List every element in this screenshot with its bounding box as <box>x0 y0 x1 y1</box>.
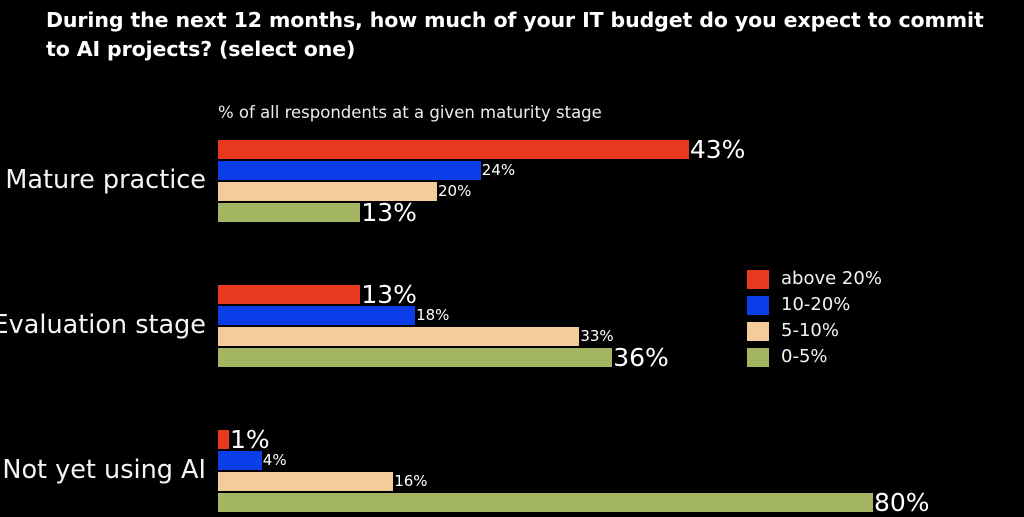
bar-value-label: 33% <box>580 329 613 344</box>
bar-group: Not yet using AI1%4%16%80% <box>0 430 1024 512</box>
legend-label: above 20% <box>781 270 882 288</box>
bar-value-label: 36% <box>613 345 669 370</box>
bar-row[interactable]: 16% <box>218 472 428 491</box>
bar-value-label: 13% <box>361 282 417 307</box>
legend-label: 0-5% <box>781 348 828 366</box>
bar[interactable] <box>218 285 360 304</box>
legend-label: 5-10% <box>781 322 839 340</box>
bar-value-label: 4% <box>263 453 287 468</box>
bar-row[interactable]: 33% <box>218 327 614 346</box>
bar-value-label: 24% <box>482 163 515 178</box>
bar-stack: 13%18%33%36% <box>218 285 1024 367</box>
bar[interactable] <box>218 493 873 512</box>
bar-value-label: 13% <box>361 200 417 225</box>
category-label: Not yet using AI <box>2 430 206 512</box>
bar[interactable] <box>218 140 689 159</box>
legend-item[interactable]: above 20% <box>747 266 882 292</box>
plot-area: Mature practice43%24%20%13%Evaluation st… <box>0 0 1024 515</box>
bar-value-label: 1% <box>230 427 270 452</box>
bar-row[interactable]: 4% <box>218 451 287 470</box>
bar-row[interactable]: 13% <box>218 285 417 304</box>
legend-item[interactable]: 5-10% <box>747 318 882 344</box>
category-label: Evaluation stage <box>0 285 206 367</box>
chart-legend: above 20%10-20%5-10%0-5% <box>747 266 882 370</box>
bar-chart: During the next 12 months, how much of y… <box>0 0 1024 515</box>
legend-item[interactable]: 0-5% <box>747 344 882 370</box>
bar[interactable] <box>218 451 262 470</box>
bar[interactable] <box>218 430 229 449</box>
bar-value-label: 16% <box>394 474 427 489</box>
legend-label: 10-20% <box>781 296 850 314</box>
bar-row[interactable]: 18% <box>218 306 449 325</box>
category-label: Mature practice <box>5 140 206 222</box>
legend-swatch <box>747 296 769 315</box>
bar-group: Mature practice43%24%20%13% <box>0 140 1024 222</box>
bar-row[interactable]: 36% <box>218 348 669 367</box>
bar-stack: 1%4%16%80% <box>218 430 1024 512</box>
legend-item[interactable]: 10-20% <box>747 292 882 318</box>
legend-swatch <box>747 270 769 289</box>
bar[interactable] <box>218 306 415 325</box>
legend-swatch <box>747 322 769 341</box>
bar-row[interactable]: 80% <box>218 493 930 512</box>
bar[interactable] <box>218 472 393 491</box>
bar[interactable] <box>218 161 481 180</box>
legend-swatch <box>747 348 769 367</box>
bar-row[interactable]: 1% <box>218 430 270 449</box>
bar-row[interactable]: 20% <box>218 182 471 201</box>
bar-row[interactable]: 13% <box>218 203 417 222</box>
bar-value-label: 20% <box>438 184 471 199</box>
bar[interactable] <box>218 203 360 222</box>
bar-value-label: 80% <box>874 490 930 515</box>
bar-row[interactable]: 43% <box>218 140 745 159</box>
bar-value-label: 43% <box>690 137 746 162</box>
bar-stack: 43%24%20%13% <box>218 140 1024 222</box>
bar[interactable] <box>218 327 579 346</box>
bar[interactable] <box>218 348 612 367</box>
bar-row[interactable]: 24% <box>218 161 515 180</box>
bar-value-label: 18% <box>416 308 449 323</box>
